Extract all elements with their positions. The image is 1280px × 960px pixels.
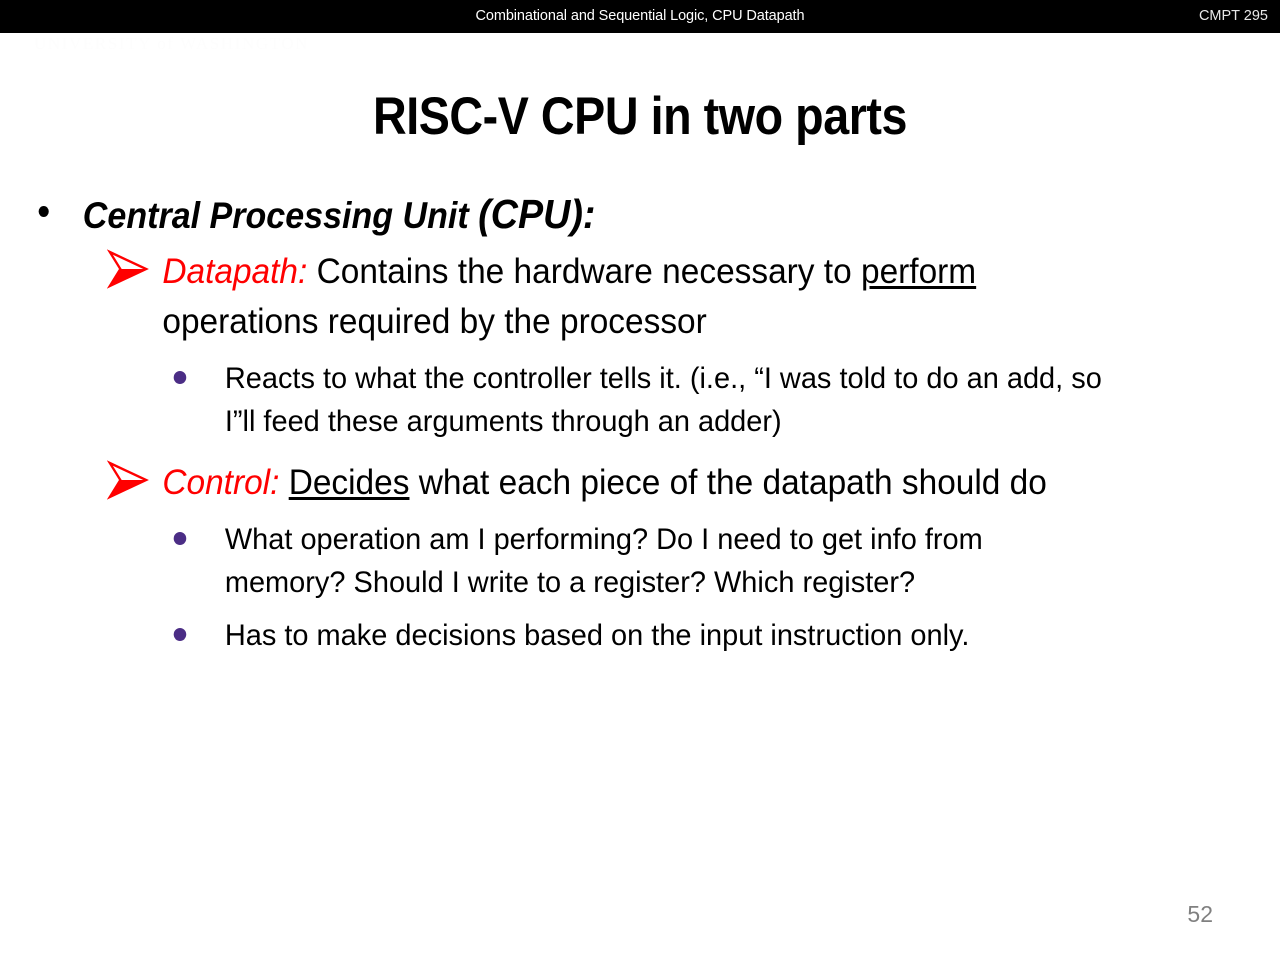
bullet-dot-icon bbox=[39, 206, 49, 217]
control-text-before bbox=[279, 463, 288, 502]
control-underlined-word: Decides bbox=[289, 463, 410, 502]
bullet-level1-text: Central Processing Unit bbox=[83, 195, 478, 236]
datapath-text-before: Contains the hardware necessary to bbox=[307, 252, 861, 291]
bullet-level3-datapath-1: Reacts to what the controller tells it. … bbox=[0, 357, 1235, 443]
datapath-underlined-word: perform bbox=[861, 252, 976, 291]
bullet-dot-icon bbox=[174, 371, 187, 384]
slide-body: Central Processing Unit (CPU): Datapath:… bbox=[0, 190, 1280, 657]
sub-bullet-line1: Has to make decisions based on the input… bbox=[225, 619, 970, 652]
bullet-level1-cpu: Central Processing Unit (CPU): bbox=[0, 190, 1178, 239]
term-control: Control: bbox=[162, 463, 279, 502]
bullet-level2-datapath: Datapath: Contains the hardware necessar… bbox=[0, 247, 1222, 347]
bullet-level2-control: Control: Decides what each piece of the … bbox=[0, 458, 1222, 508]
slide-title: RISC-V CPU in two parts bbox=[77, 86, 1203, 147]
sub-bullet-line2: memory? Should I write to a register? Wh… bbox=[225, 561, 1235, 604]
sub-bullet-line1: Reacts to what the controller tells it. … bbox=[225, 362, 1102, 395]
bullet-level3-control-2: Has to make decisions based on the input… bbox=[0, 614, 1235, 657]
arrow-head-icon bbox=[107, 460, 149, 500]
slide-number: 52 bbox=[1187, 901, 1213, 928]
control-text-after: what each piece of the datapath should d… bbox=[409, 463, 1046, 502]
sub-bullet-line2: I”ll feed these arguments through an add… bbox=[225, 400, 1235, 443]
arrow-head-icon bbox=[107, 249, 149, 289]
header-title: Combinational and Sequential Logic, CPU … bbox=[0, 0, 1280, 33]
header-course-code: CMPT 295 bbox=[1199, 0, 1268, 33]
term-datapath: Datapath: bbox=[162, 252, 307, 291]
university-watermark: UNIVERSITY of WASHINGTON bbox=[34, 34, 309, 54]
bullet-dot-icon bbox=[174, 628, 187, 641]
bullet-level1-emphasis: (CPU): bbox=[478, 191, 595, 237]
sub-bullet-line1: What operation am I performing? Do I nee… bbox=[225, 523, 983, 556]
datapath-line2: operations required by the processor bbox=[162, 297, 1222, 347]
bullet-dot-icon bbox=[174, 532, 187, 545]
bullet-level3-control-1: What operation am I performing? Do I nee… bbox=[0, 518, 1235, 604]
